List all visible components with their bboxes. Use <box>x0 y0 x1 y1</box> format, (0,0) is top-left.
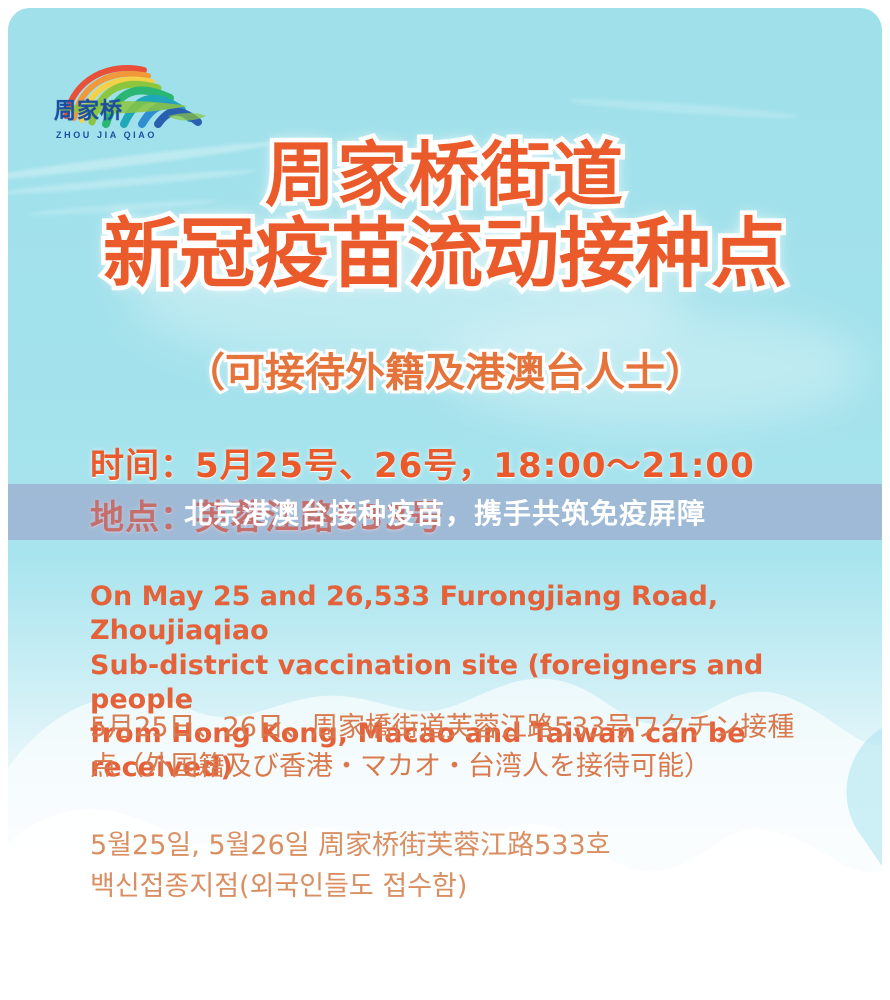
korean-line: 백신접종지점(외국인들도 접수함) <box>90 867 820 908</box>
time-line: 时间：5月25号、26号，18:00～21:00 <box>90 438 755 487</box>
logo-name-cn: 周家桥 <box>54 100 123 122</box>
headline-group: 周家桥街道 新冠疫苗流动接种点 <box>8 140 882 292</box>
korean-line: 5월25일, 5월26일 周家桥街芙蓉江路533호 <box>90 826 820 867</box>
english-line: On May 25 and 26,533 Furongjiang Road, Z… <box>90 580 820 649</box>
page-title-line2: 新冠疫苗流动接种点 <box>8 216 882 292</box>
page-title-line1: 周家桥街道 <box>8 140 882 210</box>
overlay-banner-text: 北京港澳台接种疫苗，携手共筑免疫屏障 <box>184 492 706 532</box>
japanese-translation-block: 5月25日、26日、周家橋街道芙蓉江路533号ワクチン接種 点（外国籍及び香港・… <box>90 708 820 786</box>
poster-canvas: 周家桥 ZHOU JIA QIAO 周家桥街道 新冠疫苗流动接种点 （可接待外籍… <box>8 8 882 1000</box>
korean-translation-block: 5월25일, 5월26일 周家桥街芙蓉江路533호 백신접종지점(외국인들도 접… <box>90 826 820 907</box>
overlay-banner: 北京港澳台接种疫苗，携手共筑免疫屏障 <box>8 484 882 540</box>
japanese-line: 点（外国籍及び香港・マカオ・台湾人を接待可能） <box>90 747 820 786</box>
page-subtitle: （可接待外籍及港澳台人士） <box>8 340 882 398</box>
logo-name-pinyin: ZHOU JIA QIAO <box>56 130 157 140</box>
vaccination-poster: 周家桥 ZHOU JIA QIAO 周家桥街道 新冠疫苗流动接种点 （可接待外籍… <box>0 0 890 1000</box>
english-line: Sub-district vaccination site (foreigner… <box>90 649 820 718</box>
japanese-line: 5月25日、26日、周家橋街道芙蓉江路533号ワクチン接種 <box>90 708 820 747</box>
